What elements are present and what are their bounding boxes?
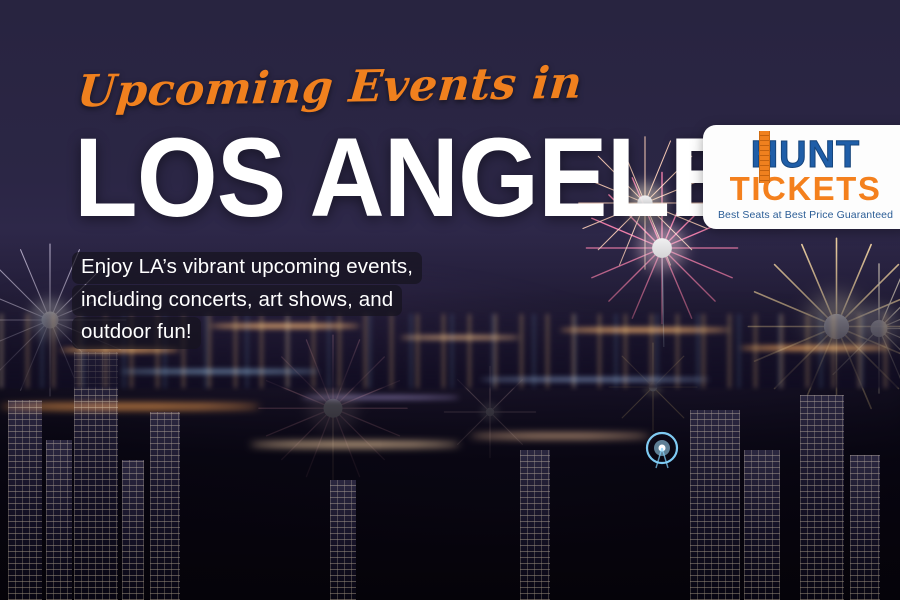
subtitle-line: including concerts, art shows, and (72, 285, 402, 317)
skyline-tower (122, 460, 144, 600)
brand-tagline: Best Seats at Best Price Guaranteed (703, 209, 900, 221)
skyline-tower (8, 400, 42, 600)
skyline-tower (744, 450, 780, 600)
ferris-wheel-icon (640, 428, 684, 472)
skyline-tower (330, 480, 356, 600)
brand-logo-card[interactable]: HUNT TICKETS Best Seats at Best Price Gu… (703, 125, 900, 229)
page-title: LOS ANGELES (74, 126, 806, 229)
skyline-tower (800, 395, 844, 600)
event-promo-banner: Upcoming Events in LOS ANGELES Enjoy LA’… (0, 0, 900, 600)
brand-name-secondary: TICKETS (703, 172, 900, 206)
skyline-tower (46, 440, 72, 600)
subtitle-line: Enjoy LA’s vibrant upcoming events, (72, 252, 422, 284)
skyline-tower (690, 410, 740, 600)
brand-name-primary: HUNT (751, 136, 861, 174)
skyline-tower (74, 352, 118, 600)
skyline-tower (150, 412, 180, 600)
skyline-tower (850, 455, 880, 600)
subtitle-block: Enjoy LA’s vibrant upcoming events, incl… (72, 252, 492, 350)
skyline-tower (520, 450, 550, 600)
ticket-stub-icon (759, 131, 770, 183)
subtitle-line: outdoor fun! (72, 317, 201, 349)
eyebrow-text: Upcoming Events in (75, 58, 584, 118)
